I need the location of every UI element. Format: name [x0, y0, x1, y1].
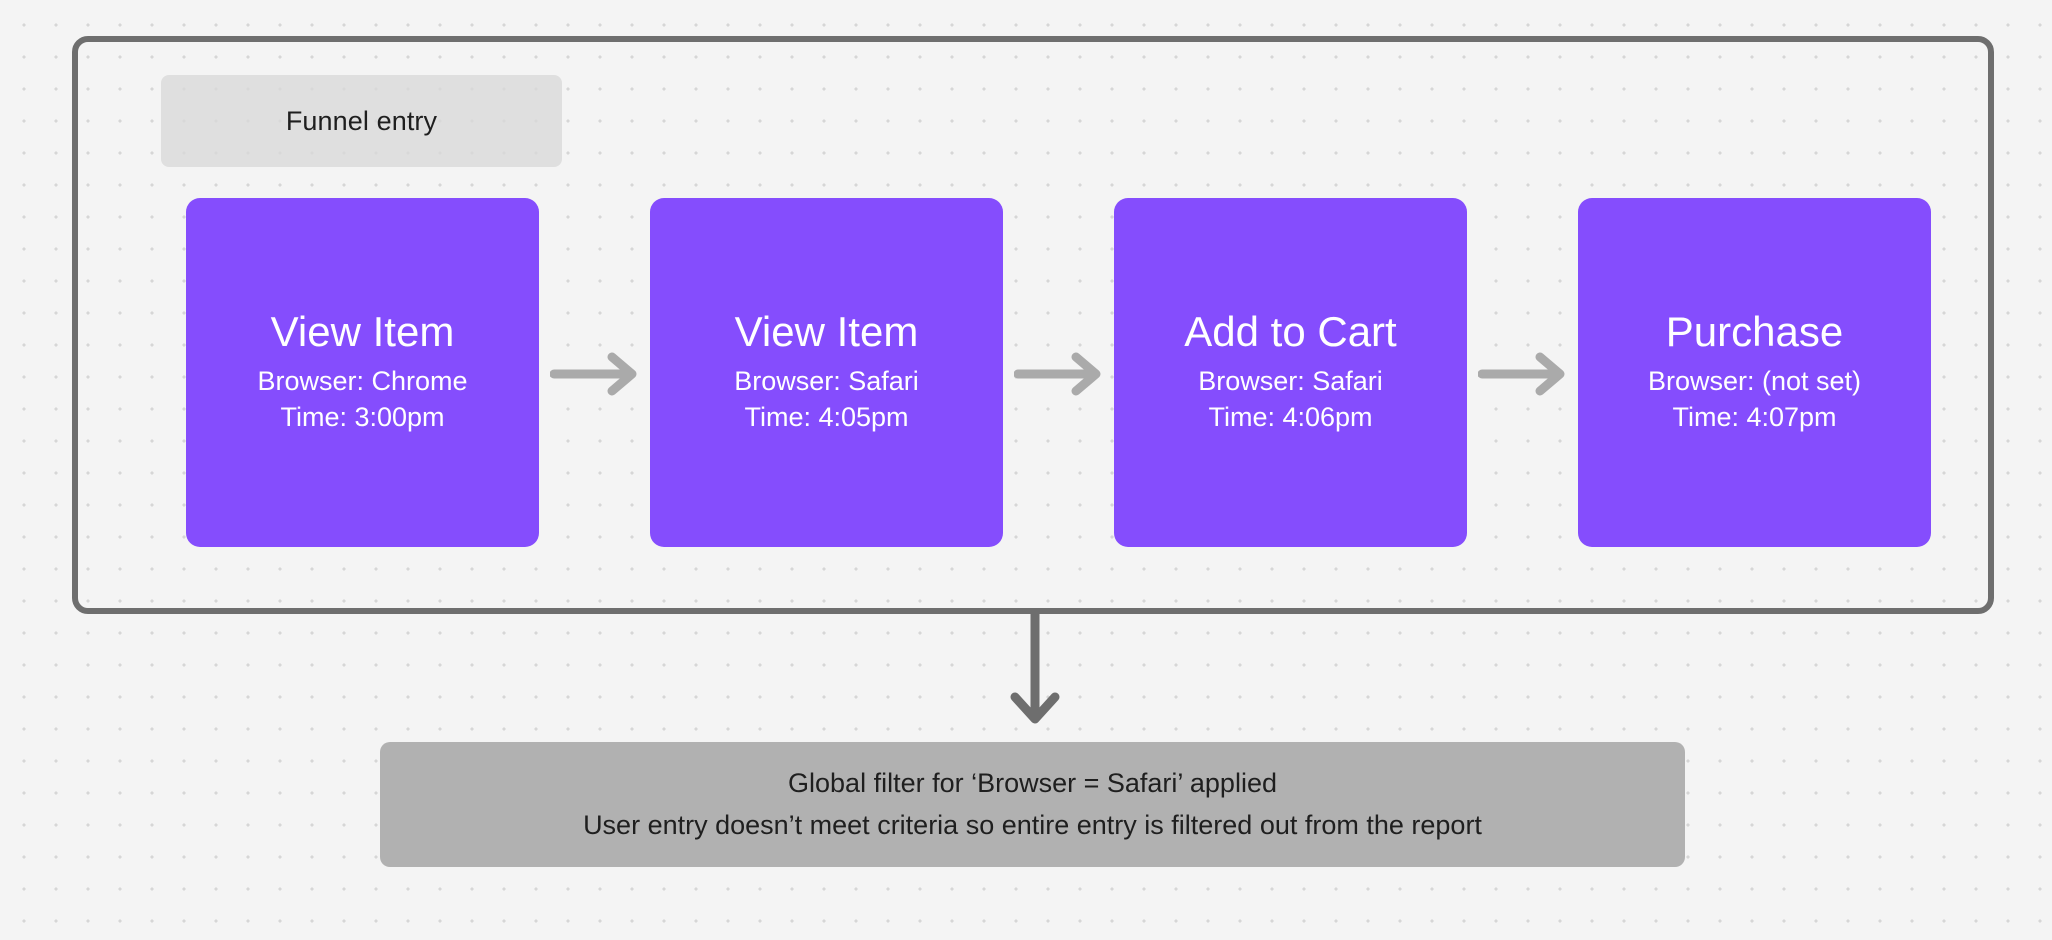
step-browser: Browser: (not set) — [1648, 363, 1861, 399]
funnel-step-card-3[interactable]: Add to Cart Browser: Safari Time: 4:06pm — [1114, 198, 1467, 547]
diagram-canvas: Funnel entry View Item Browser: Chrome T… — [0, 0, 2052, 940]
step-title: View Item — [271, 309, 455, 354]
arrow-right-icon-3 — [1478, 352, 1574, 396]
arrow-right-icon-2 — [1014, 352, 1110, 396]
step-time: Time: 4:07pm — [1672, 399, 1836, 435]
global-filter-note: Global filter for ‘Browser = Safari’ app… — [380, 742, 1685, 867]
step-time: Time: 3:00pm — [280, 399, 444, 435]
funnel-entry-label: Funnel entry — [161, 75, 562, 167]
funnel-steps-row: View Item Browser: Chrome Time: 3:00pm V… — [186, 198, 1666, 547]
step-title: View Item — [735, 309, 919, 354]
note-line-1: Global filter for ‘Browser = Safari’ app… — [788, 763, 1277, 805]
funnel-step-card-4[interactable]: Purchase Browser: (not set) Time: 4:07pm — [1578, 198, 1931, 547]
step-title: Purchase — [1666, 309, 1843, 354]
arrow-down-icon — [1007, 611, 1063, 727]
step-title: Add to Cart — [1184, 309, 1396, 354]
funnel-entry-label-text: Funnel entry — [286, 106, 437, 137]
note-line-2: User entry doesn’t meet criteria so enti… — [583, 805, 1482, 847]
step-browser: Browser: Safari — [1198, 363, 1383, 399]
arrow-right-icon-1 — [550, 352, 646, 396]
step-time: Time: 4:06pm — [1208, 399, 1372, 435]
funnel-step-card-2[interactable]: View Item Browser: Safari Time: 4:05pm — [650, 198, 1003, 547]
funnel-step-card-1[interactable]: View Item Browser: Chrome Time: 3:00pm — [186, 198, 539, 547]
step-browser: Browser: Chrome — [257, 363, 467, 399]
step-browser: Browser: Safari — [734, 363, 919, 399]
step-time: Time: 4:05pm — [744, 399, 908, 435]
